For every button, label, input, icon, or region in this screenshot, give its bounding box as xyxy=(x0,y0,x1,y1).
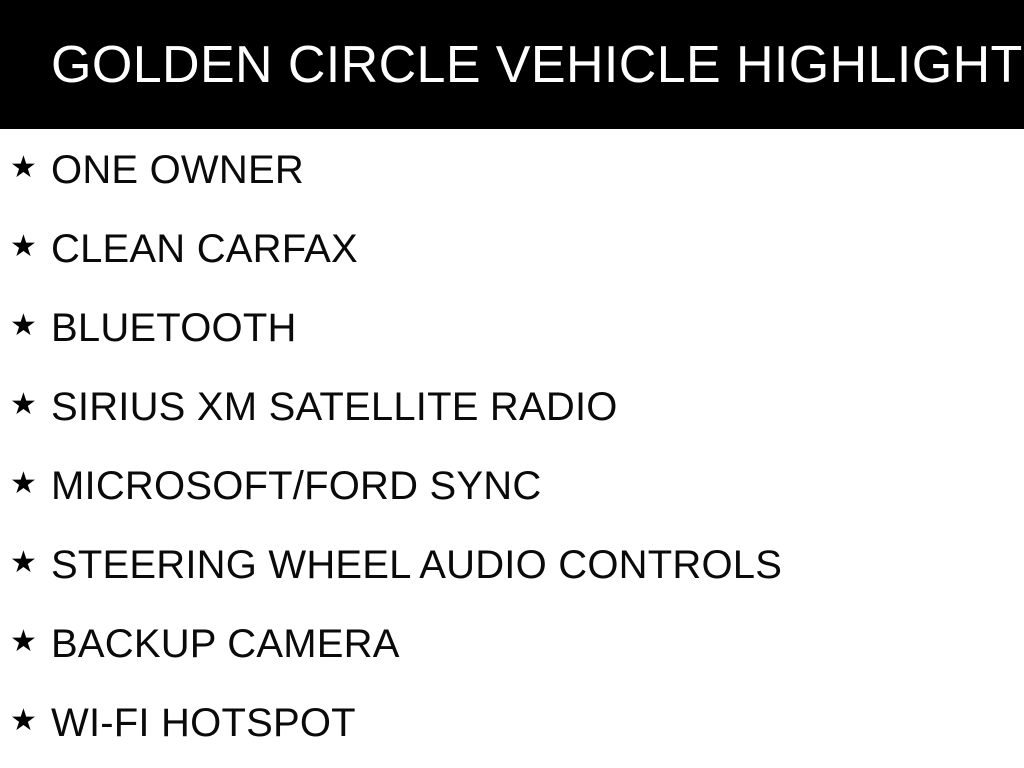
star-icon: ★ xyxy=(10,548,35,578)
vehicle-highlights-page: GOLDEN CIRCLE VEHICLE HIGHLIGHTS ★ ONE O… xyxy=(0,0,1024,768)
highlight-label: MICROSOFT/FORD SYNC xyxy=(35,466,541,506)
star-icon: ★ xyxy=(10,232,35,262)
list-item: ★ WI-FI HOTSPOT xyxy=(0,682,1024,761)
vehicle-highlights-list: ★ ONE OWNER ★ CLEAN CARFAX ★ BLUETOOTH ★… xyxy=(0,129,1024,761)
star-icon: ★ xyxy=(10,311,35,341)
highlight-label: BLUETOOTH xyxy=(35,308,297,348)
star-icon: ★ xyxy=(10,390,35,420)
star-icon: ★ xyxy=(10,627,35,657)
highlight-label: CLEAN CARFAX xyxy=(35,229,358,269)
star-icon: ★ xyxy=(10,153,35,183)
list-item: ★ STEERING WHEEL AUDIO CONTROLS xyxy=(0,524,1024,603)
highlight-label: BACKUP CAMERA xyxy=(35,624,400,664)
highlight-label: SIRIUS XM SATELLITE RADIO xyxy=(35,387,618,427)
list-item: ★ ONE OWNER xyxy=(0,129,1024,208)
header-banner: GOLDEN CIRCLE VEHICLE HIGHLIGHTS xyxy=(0,0,1024,129)
list-item: ★ SIRIUS XM SATELLITE RADIO xyxy=(0,366,1024,445)
page-title: GOLDEN CIRCLE VEHICLE HIGHLIGHTS xyxy=(0,39,1024,91)
star-icon: ★ xyxy=(10,706,35,736)
highlight-label: STEERING WHEEL AUDIO CONTROLS xyxy=(35,545,782,585)
highlight-label: WI-FI HOTSPOT xyxy=(35,703,356,743)
list-item: ★ MICROSOFT/FORD SYNC xyxy=(0,445,1024,524)
star-icon: ★ xyxy=(10,469,35,499)
list-item: ★ CLEAN CARFAX xyxy=(0,208,1024,287)
highlight-label: ONE OWNER xyxy=(35,150,304,190)
list-item: ★ BLUETOOTH xyxy=(0,287,1024,366)
list-item: ★ BACKUP CAMERA xyxy=(0,603,1024,682)
